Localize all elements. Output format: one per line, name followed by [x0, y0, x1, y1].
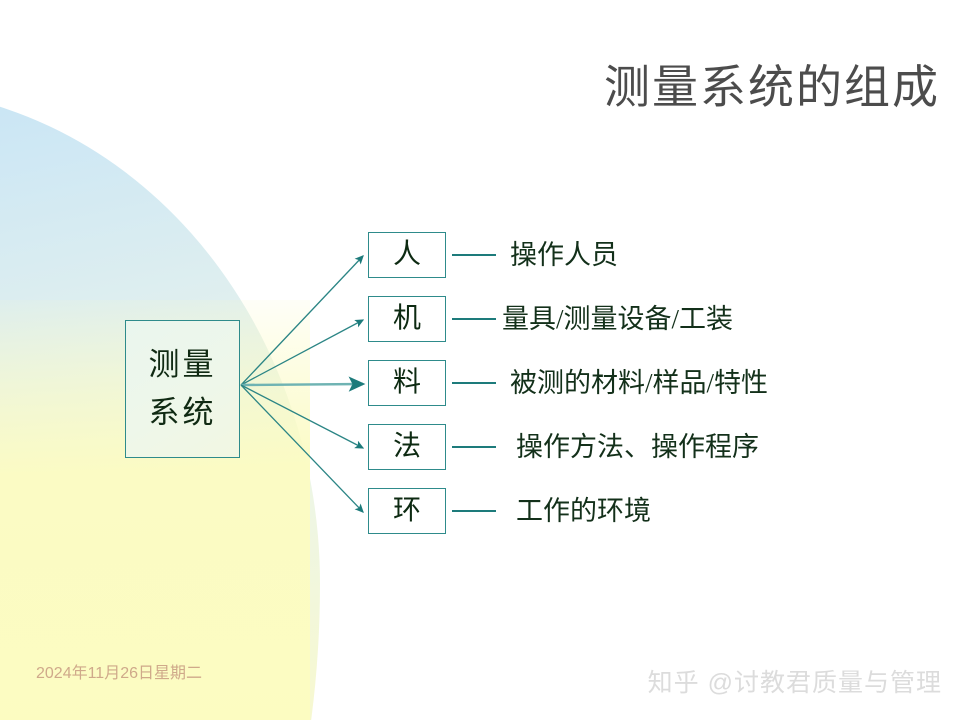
- branch-row-huan: 环 工作的环境: [368, 488, 651, 534]
- branch-row-ren: 人 操作人员: [368, 232, 618, 278]
- branch-connector-line-fa: [452, 446, 496, 448]
- branch-row-fa: 法 操作方法、操作程序: [368, 424, 759, 470]
- arrow-to-ji: [241, 320, 363, 385]
- branch-connector-line-ji: [452, 318, 496, 320]
- branch-label-ji: 量具/测量设备/工装: [502, 304, 733, 334]
- branch-connector-line-liao: [452, 382, 496, 384]
- branch-connector-line-huan: [452, 510, 496, 512]
- branch-label-fa: 操作方法、操作程序: [502, 432, 759, 462]
- branch-box-fa[interactable]: 法: [368, 424, 446, 470]
- watermark: 知乎 @讨教君质量与管理: [648, 668, 942, 698]
- slide-canvas: 测量系统的组成 测量 系统 人 操作人员 机 量具/测量设备/工装 料 被测的材…: [0, 0, 960, 720]
- branch-connector-line-ren: [452, 254, 496, 256]
- branch-row-liao: 料 被测的材料/样品/特性: [368, 360, 768, 406]
- branch-label-ren: 操作人员: [502, 240, 618, 270]
- center-node-line-1: 测量: [149, 348, 217, 382]
- arrow-to-fa: [241, 385, 363, 448]
- page-title: 测量系统的组成: [560, 60, 940, 116]
- branch-row-ji: 机 量具/测量设备/工装: [368, 296, 733, 342]
- date-stamp: 2024年11月26日星期二: [36, 664, 202, 684]
- branch-box-ji[interactable]: 机: [368, 296, 446, 342]
- center-node-line-2: 系统: [149, 396, 217, 430]
- arrow-to-huan: [241, 385, 363, 512]
- branch-box-liao[interactable]: 料: [368, 360, 446, 406]
- branch-box-huan[interactable]: 环: [368, 488, 446, 534]
- branch-label-liao: 被测的材料/样品/特性: [502, 368, 768, 398]
- arrow-to-ren: [241, 256, 363, 385]
- branch-label-huan: 工作的环境: [502, 496, 651, 526]
- arrow-to-liao: [241, 384, 363, 385]
- center-node-measurement-system[interactable]: 测量 系统: [125, 320, 240, 458]
- branch-box-ren[interactable]: 人: [368, 232, 446, 278]
